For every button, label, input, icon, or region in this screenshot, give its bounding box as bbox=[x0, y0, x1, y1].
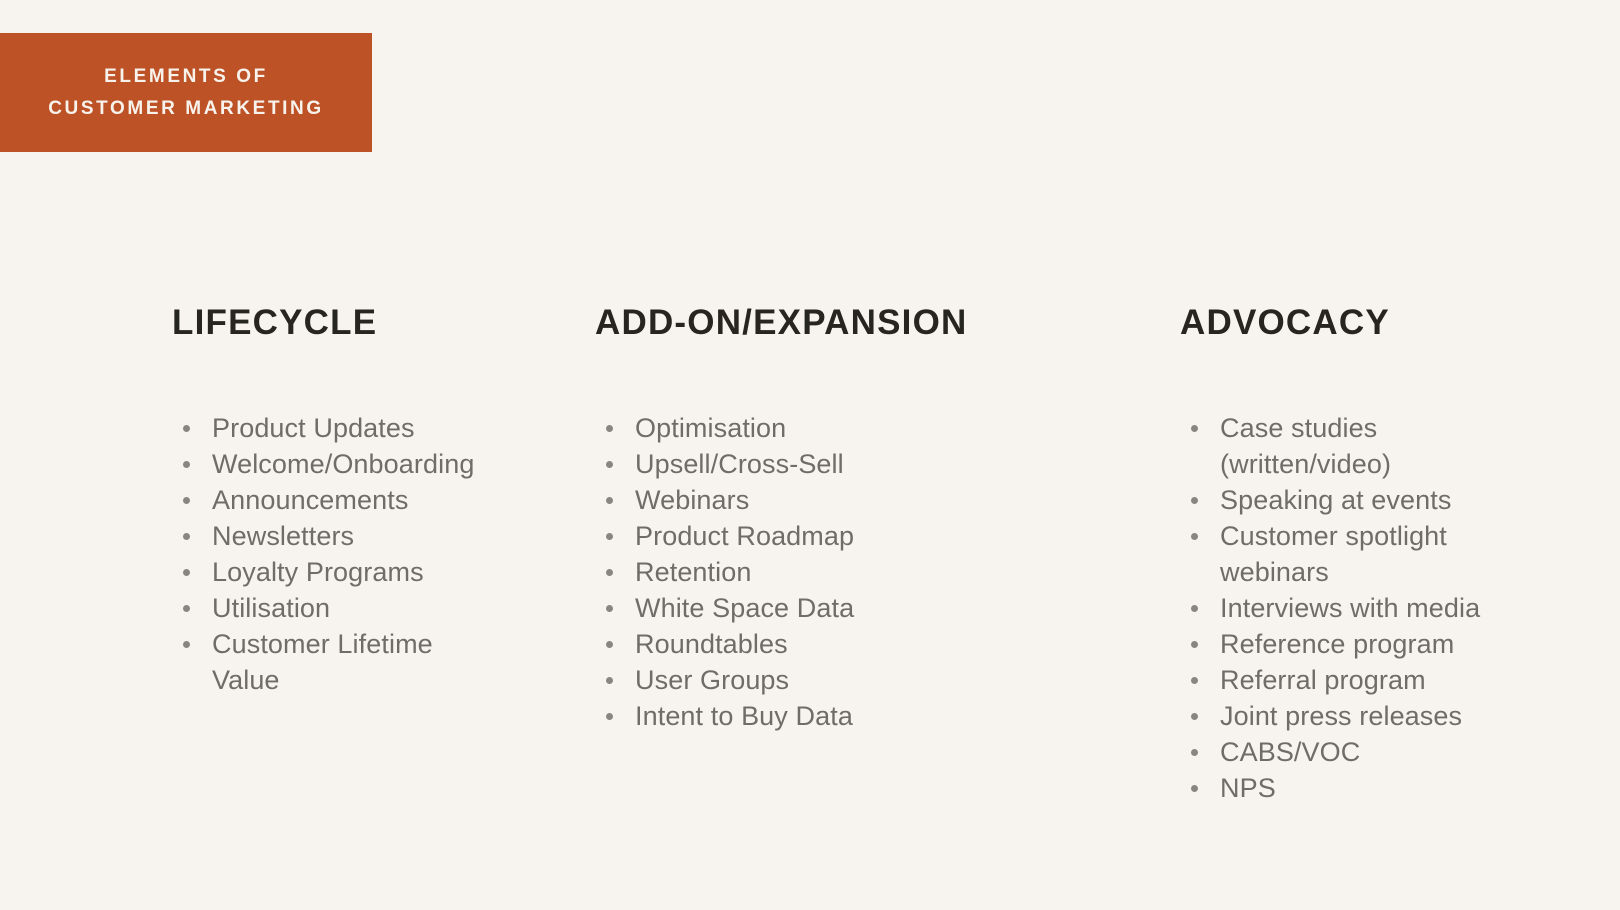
list-item: Upsell/Cross-Sell bbox=[606, 446, 936, 482]
list-item: Interviews with media bbox=[1191, 590, 1521, 626]
list-item: Case studies (written/video) bbox=[1191, 410, 1521, 482]
list-item: Product Roadmap bbox=[606, 518, 936, 554]
list-item: Roundtables bbox=[606, 626, 936, 662]
list-item: User Groups bbox=[606, 662, 936, 698]
list-item: Customer spotlight webinars bbox=[1191, 518, 1521, 590]
list-item: NPS bbox=[1191, 770, 1521, 806]
column-advocacy: ADVOCACY Case studies (written/video) Sp… bbox=[1180, 305, 1580, 340]
list-item: Optimisation bbox=[606, 410, 936, 446]
list-item: CABS/VOC bbox=[1191, 734, 1521, 770]
list-item: Product Updates bbox=[183, 410, 493, 446]
list-item: Announcements bbox=[183, 482, 493, 518]
title-banner: ELEMENTS OF CUSTOMER MARKETING bbox=[0, 33, 372, 152]
banner-line-2: CUSTOMER MARKETING bbox=[48, 99, 324, 118]
list-item: Newsletters bbox=[183, 518, 493, 554]
column-heading-advocacy: ADVOCACY bbox=[1180, 305, 1580, 340]
column-add-on-expansion: ADD-ON/EXPANSION Optimisation Upsell/Cro… bbox=[595, 305, 1055, 340]
list-item: Webinars bbox=[606, 482, 936, 518]
list-item: Referral program bbox=[1191, 662, 1521, 698]
column-heading-lifecycle: LIFECYCLE bbox=[172, 305, 572, 340]
list-item: Intent to Buy Data bbox=[606, 698, 936, 734]
banner-line-1: ELEMENTS OF bbox=[104, 67, 268, 86]
list-item: Customer Lifetime Value bbox=[183, 626, 493, 698]
list-item: Loyalty Programs bbox=[183, 554, 493, 590]
list-item: Reference program bbox=[1191, 626, 1521, 662]
bullet-list-add-on-expansion: Optimisation Upsell/Cross-Sell Webinars … bbox=[606, 410, 936, 734]
bullet-list-advocacy: Case studies (written/video) Speaking at… bbox=[1191, 410, 1521, 806]
list-item: Retention bbox=[606, 554, 936, 590]
list-item: White Space Data bbox=[606, 590, 936, 626]
column-lifecycle: LIFECYCLE Product Updates Welcome/Onboar… bbox=[172, 305, 572, 340]
list-item: Joint press releases bbox=[1191, 698, 1521, 734]
column-heading-add-on-expansion: ADD-ON/EXPANSION bbox=[595, 305, 1055, 340]
list-item: Speaking at events bbox=[1191, 482, 1521, 518]
list-item: Utilisation bbox=[183, 590, 493, 626]
list-item: Welcome/Onboarding bbox=[183, 446, 493, 482]
bullet-list-lifecycle: Product Updates Welcome/Onboarding Annou… bbox=[183, 410, 493, 698]
